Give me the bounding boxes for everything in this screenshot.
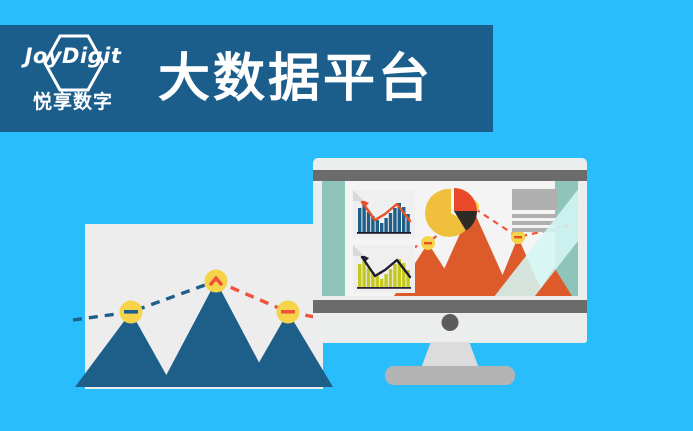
left-chart-panel	[85, 224, 323, 389]
monitor-stand-base	[385, 366, 515, 385]
placeholder-text-line	[512, 214, 558, 218]
monitor-screen	[322, 181, 578, 296]
mini-chart-card-blue[interactable]	[353, 190, 415, 238]
banner-canvas: JoyDigit 悦享数字 大数据平台	[0, 0, 693, 431]
monitor-bottom-bar	[313, 300, 587, 313]
olive-bar-chart	[353, 245, 415, 293]
blue-bar-chart	[353, 190, 415, 238]
data-marker-3[interactable]	[277, 301, 300, 324]
left-panel-chart	[85, 224, 323, 389]
pie-chart-widget[interactable]	[426, 187, 478, 239]
monitor-illustration	[313, 158, 587, 343]
header-band: JoyDigit 悦享数字 大数据平台	[0, 25, 493, 132]
brand-logo[interactable]: JoyDigit 悦享数字	[14, 33, 132, 125]
mountain-shape-left	[75, 312, 173, 387]
mini-chart-card-olive[interactable]	[353, 245, 415, 293]
placeholder-image-block	[512, 189, 558, 210]
power-indicator-dot	[442, 314, 459, 331]
data-marker-2[interactable]	[205, 270, 228, 293]
data-marker-1[interactable]	[120, 301, 143, 324]
pie-slice-red	[454, 188, 477, 211]
dashed-line-blue	[73, 281, 216, 320]
logo-subtext: 悦享数字	[14, 93, 132, 112]
pie-chart	[426, 187, 478, 239]
monitor-top-bar	[313, 170, 587, 181]
page-title: 大数据平台	[158, 53, 433, 105]
logo-wordmark: JoyDigit	[14, 46, 132, 67]
